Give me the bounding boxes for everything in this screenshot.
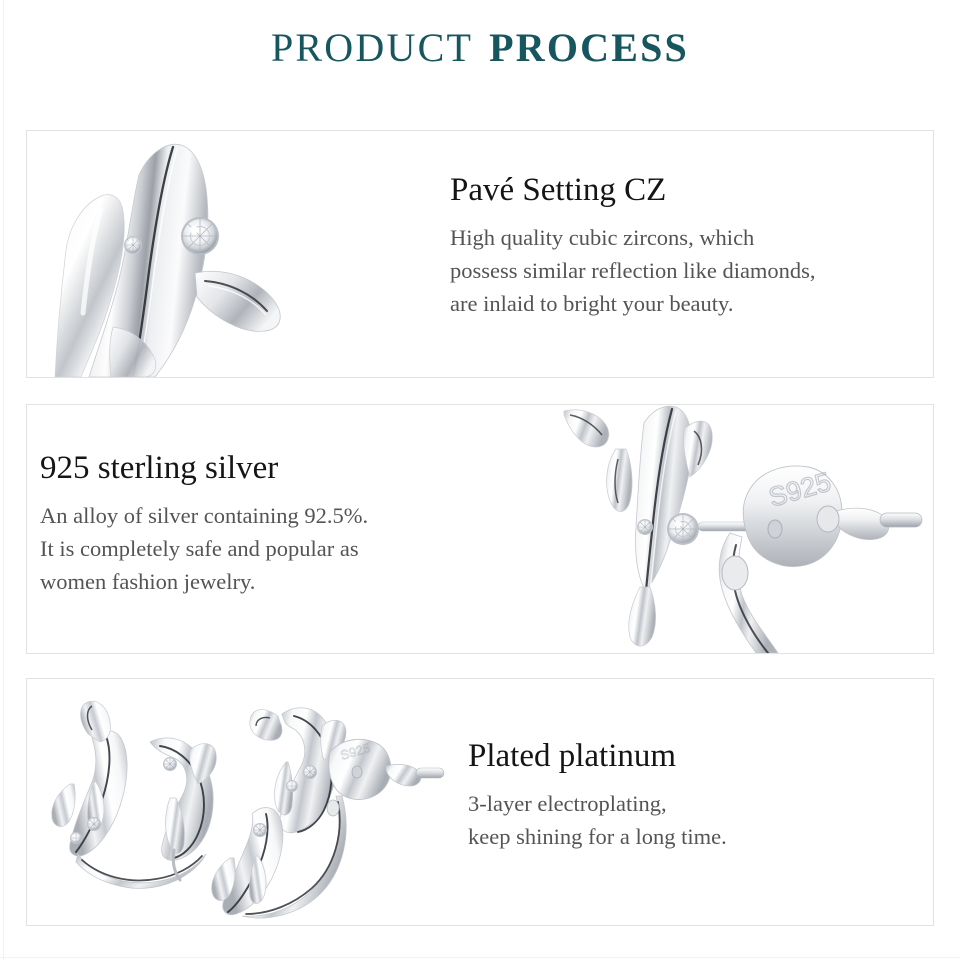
cz-right-lower [253,823,267,837]
page-title-process: PROCESS [489,25,689,70]
feature-heading-1: Pavé Setting CZ [450,172,920,208]
cz-left-lower-a [87,817,101,831]
feature-heading-3: Plated platinum [468,738,918,774]
feature-body-1: High quality cubic zircons, which posses… [450,222,920,320]
feature-text-pave-setting-cz: Pavé Setting CZ High quality cubic zirco… [450,172,920,320]
cz-stone-main-2 [667,513,699,545]
cz-stone-small-2 [637,519,653,535]
cz-right-upper [303,765,317,779]
page-edge-bottom [0,957,960,958]
dolphin-earring-pair-illustration: S925 [30,690,450,920]
dolphin-closeup-illustration [27,131,427,377]
feature-heading-2: 925 sterling silver [40,450,500,486]
cz-right-upper-b [286,780,298,792]
feature-body-3: 3-layer electroplating, keep shining for… [468,788,918,853]
page-title-product: PRODUCT [271,25,473,70]
feature-text-925-sterling-silver: 925 sterling silver An alloy of silver c… [40,450,500,598]
product-photo-cz-closeup [27,131,427,377]
product-photo-earring-back: S925 [560,405,933,653]
feature-body-2: An alloy of silver containing 92.5%. It … [40,500,500,598]
earring-post-and-back-illustration: S925 [560,405,933,653]
feature-text-plated-platinum: Plated platinum 3-layer electroplating, … [468,738,918,854]
page-edge-left [3,0,4,960]
cz-left-lower-b [70,832,82,844]
cz-stone-small [124,236,142,254]
cz-left-upper [163,757,177,771]
page-header: PRODUCTPROCESS [0,28,960,68]
product-photo-earring-pair: S925 [30,690,450,920]
cz-stone-main [181,217,219,255]
